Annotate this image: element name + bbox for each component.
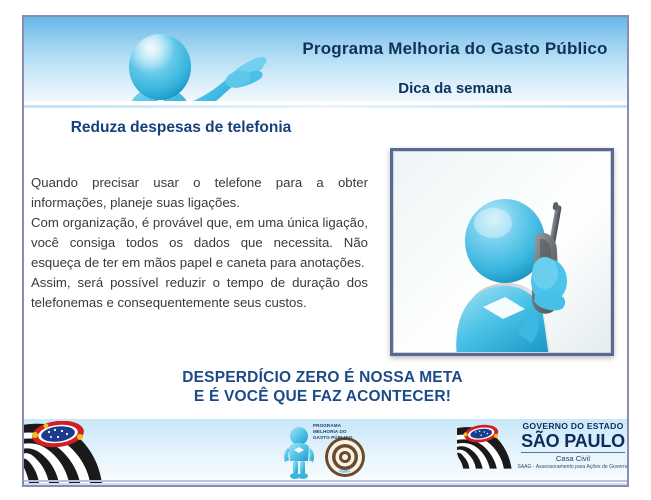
header-title-block: Programa Melhoria do Gasto Público Dica …: [260, 39, 627, 97]
program-logo-line-3: GASTO PÚBLICO: [313, 435, 379, 441]
illustration-panel: [390, 148, 614, 356]
sao-paulo-state-logo: [457, 421, 627, 481]
poster-root: Programa Melhoria do Gasto Público Dica …: [0, 0, 651, 500]
mascot-presenting-icon: [86, 31, 271, 105]
tip-paragraph-1: Quando precisar usar o telefone para a o…: [31, 173, 368, 213]
mascot-on-phone-icon: [439, 185, 599, 356]
program-logo-caption: PROGRAMA MELHORIA DO GASTO PÚBLICO: [313, 423, 379, 442]
tip-paragraph-2: Com organização, é provável que, em uma …: [31, 213, 368, 273]
campaign-slogan: DESPERDÍCIO ZERO É NOSSA META E É VOCÊ Q…: [31, 368, 614, 407]
footer-divider-2: [24, 483, 627, 485]
slogan-line-2: E É VOCÊ QUE FAZ ACONTECER!: [31, 387, 614, 406]
program-title: Programa Melhoria do Gasto Público: [260, 39, 627, 59]
slogan-line-1: DESPERDÍCIO ZERO É NOSSA META: [31, 368, 614, 387]
header-divider: [24, 105, 627, 108]
header-banner: Programa Melhoria do Gasto Público Dica …: [24, 17, 627, 105]
footer-divider-1: [24, 480, 627, 482]
tip-heading: Reduza despesas de telefonia: [36, 118, 326, 138]
tip-paragraph-3: Assim, será possível reduzir o tempo de …: [31, 273, 368, 313]
tip-body: Quando precisar usar o telefone para a o…: [31, 173, 368, 313]
program-subtitle: Dica da semana: [260, 80, 627, 97]
footer-bar: DESPERDÍCIO ZERO PROGRAMA MELHORIA DO GA…: [24, 419, 627, 485]
sao-paulo-flag-icon: [24, 421, 142, 483]
